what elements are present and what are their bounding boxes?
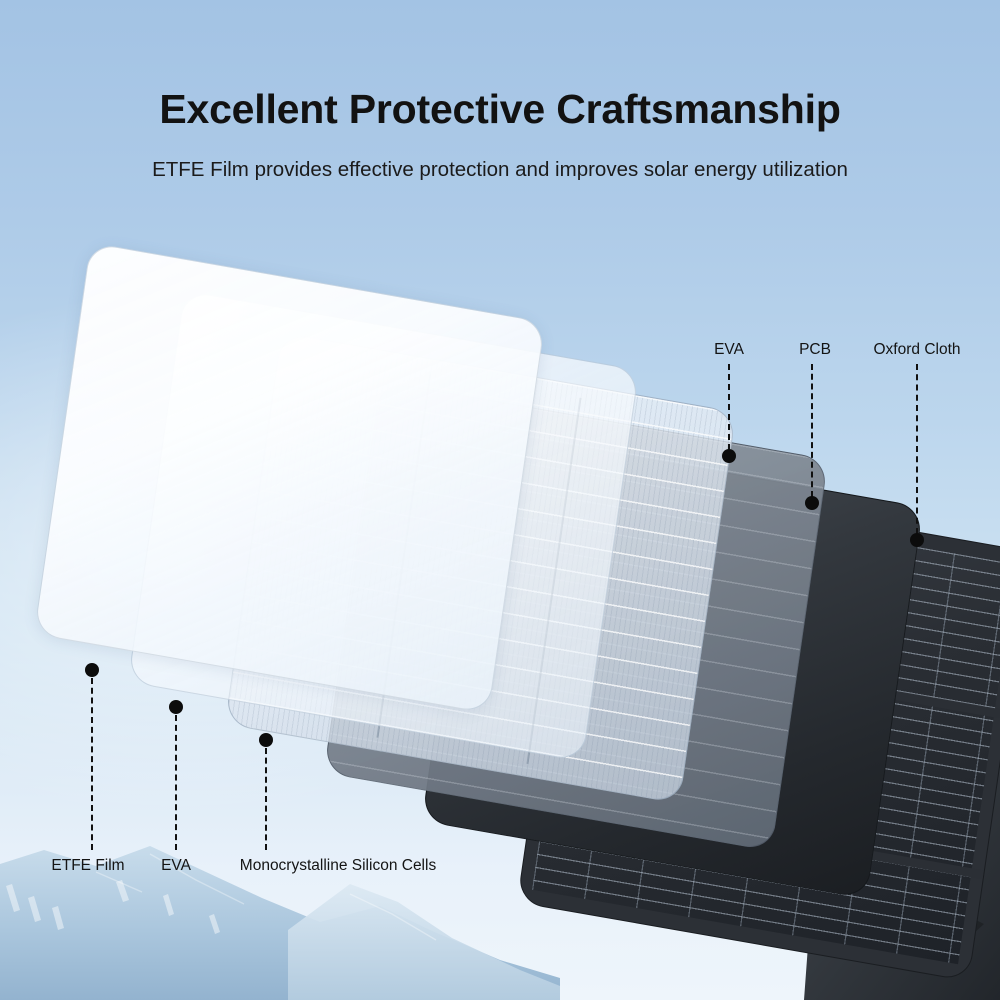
callout-label-oxford-cloth: Oxford Cloth bbox=[873, 341, 960, 359]
leader-line-etfe-film bbox=[91, 678, 93, 850]
leader-line-pcb bbox=[811, 364, 813, 497]
leader-line-eva-top bbox=[728, 364, 730, 450]
callout-label-eva-bottom: EVA bbox=[161, 857, 191, 875]
callout-dot-eva-bottom bbox=[169, 700, 183, 714]
leader-line-eva-bottom bbox=[175, 715, 177, 850]
exploded-layer-stack bbox=[0, 0, 1000, 1000]
leader-line-oxford-cloth bbox=[916, 364, 918, 534]
callout-label-etfe-film: ETFE Film bbox=[51, 857, 124, 875]
layer-etfe-film bbox=[34, 242, 546, 714]
callout-dot-pcb bbox=[805, 496, 819, 510]
callout-label-monocrystalline: Monocrystalline Silicon Cells bbox=[240, 857, 436, 875]
leader-line-monocrystalline bbox=[265, 748, 267, 850]
callout-dot-oxford-cloth bbox=[910, 533, 924, 547]
callout-label-pcb: PCB bbox=[799, 341, 831, 359]
callout-label-eva-top: EVA bbox=[714, 341, 744, 359]
callout-dot-etfe-film bbox=[85, 663, 99, 677]
callout-dot-eva-top bbox=[722, 449, 736, 463]
callout-dot-monocrystalline bbox=[259, 733, 273, 747]
